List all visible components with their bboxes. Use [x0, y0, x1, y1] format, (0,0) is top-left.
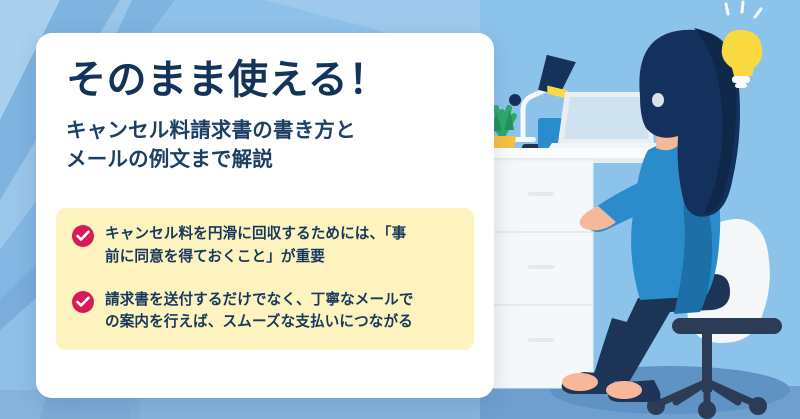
subtitle-line-2: メールの例文まで解説 [66, 145, 464, 174]
list-item: 請求書を送付するだけでなく、丁寧なメールで の案内を行えば、スムーズな支払いにつ… [72, 289, 458, 335]
list-item-text: 請求書を送付するだけでなく、丁寧なメールで の案内を行えば、スムーズな支払いにつ… [105, 289, 414, 335]
bullet-2-line-1: 請求書を送付するだけでなく、丁寧なメールで [105, 289, 414, 312]
list-item: キャンセル料を円滑に回収するためには、「事 前に同意を得ておくこと」が重要 [72, 223, 458, 269]
check-circle-icon [72, 225, 94, 247]
list-item-text: キャンセル料を円滑に回収するためには、「事 前に同意を得ておくこと」が重要 [105, 223, 406, 269]
key-points-box: キャンセル料を円滑に回収するためには、「事 前に同意を得ておくこと」が重要 請求… [56, 208, 474, 350]
card-inner: そのまま使える！ キャンセル料請求書の書き方と メールの例文まで解説 キャンセル… [36, 33, 494, 398]
bullet-2-line-2: の案内を行えば、スムーズな支払いにつながる [105, 311, 414, 334]
bullet-1-line-1: キャンセル料を円滑に回収するためには、「事 [105, 223, 406, 246]
subtitle-line-1: キャンセル料請求書の書き方と [66, 116, 464, 145]
poster-canvas: そのまま使える！ キャンセル料請求書の書き方と メールの例文まで解説 キャンセル… [0, 0, 800, 419]
page-title: そのまま使える！ [66, 59, 464, 102]
check-circle-icon [72, 291, 94, 313]
content-card: そのまま使える！ キャンセル料請求書の書き方と メールの例文まで解説 キャンセル… [36, 33, 494, 398]
page-subtitle: キャンセル料請求書の書き方と メールの例文まで解説 [66, 116, 464, 174]
illustration-panel [480, 0, 800, 419]
bullet-1-line-2: 前に同意を得ておくこと」が重要 [105, 246, 406, 269]
drawer-cabinet [488, 160, 593, 388]
